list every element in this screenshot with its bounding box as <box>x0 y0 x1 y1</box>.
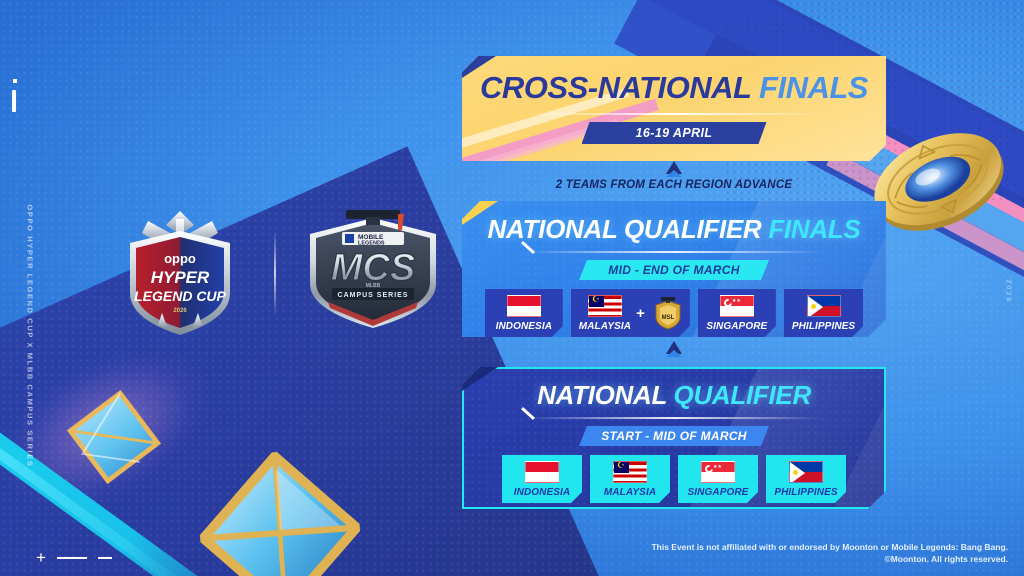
team-card-indonesia[interactable]: INDONESIA <box>485 289 563 337</box>
svg-text:HYPER: HYPER <box>151 268 210 287</box>
team-label: MALAYSIA <box>579 321 631 332</box>
team-card-singapore[interactable]: ★★ SINGAPORE <box>678 455 758 503</box>
footer-line-1: This Event is not affiliated with or end… <box>651 541 1008 554</box>
connector-qualify <box>462 337 886 367</box>
svg-text:LEGEND CUP: LEGEND CUP <box>134 288 226 304</box>
decor-dot <box>13 79 17 83</box>
mlbb-campus-series-logo: MOBILE LEGENDS MCS CAMPUS SERIES MLBB <box>298 210 448 335</box>
team-card-malaysia[interactable]: MALAYSIA <box>590 455 670 503</box>
qualifier-date-badge: START - MID OF MARCH <box>579 426 769 446</box>
team-label: INDONESIA <box>496 321 552 332</box>
divider-rule <box>526 417 822 419</box>
team-card-philippines[interactable]: PHILIPPINES <box>784 289 863 337</box>
crystal-gem-icon <box>195 447 366 576</box>
team-label: SINGAPORE <box>688 487 749 498</box>
crystal-gem-icon <box>60 382 169 492</box>
qualifier-finals-team-row: INDONESIA MALAYSIA + MSL <box>462 289 886 337</box>
team-card-malaysia[interactable]: MALAYSIA + MSL <box>571 289 690 337</box>
poster-canvas: + OPPO HYPER LEGEND CUP X MLBB CAMPUS SE… <box>0 0 1024 576</box>
cross-national-finals-panel: CROSS-NATIONAL FINALS 16-19 APRIL <box>462 56 886 161</box>
oppo-hyper-legend-cup-logo: oppo HYPER LEGEND CUP 2026 <box>110 205 250 340</box>
dash-icon <box>57 557 87 559</box>
svg-text:LEGENDS: LEGENDS <box>358 241 385 247</box>
footer-disclaimer: This Event is not affiliated with or end… <box>651 541 1008 567</box>
divider-rule <box>524 113 824 115</box>
qualifier-title: NATIONAL QUALIFIER <box>462 367 886 411</box>
connector-label: 2 TEAMS FROM EACH REGION ADVANCE <box>462 179 886 191</box>
philippines-flag-icon <box>807 295 841 317</box>
malaysia-flag-icon <box>588 295 622 317</box>
qualifier-title-main: NATIONAL <box>537 380 667 410</box>
tournament-stage-panels: CROSS-NATIONAL FINALS 16-19 APRIL 2 TEAM… <box>462 56 886 509</box>
qualifier-team-row: INDONESIA MALAYSIA ★★ SINGAPORE PHIL <box>462 455 886 503</box>
divider-rule <box>526 251 822 253</box>
plus-icon: + <box>36 548 46 568</box>
team-label: INDONESIA <box>514 487 570 498</box>
plus-icon: + <box>636 305 645 322</box>
gold-medal-icon <box>868 108 1010 256</box>
connector-advance: 2 TEAMS FROM EACH REGION ADVANCE <box>462 161 886 201</box>
team-card-indonesia[interactable]: INDONESIA <box>502 455 582 503</box>
national-qualifier-finals-panel: NATIONAL QUALIFIER FINALS MID - END OF M… <box>462 201 886 337</box>
team-card-philippines[interactable]: PHILIPPINES <box>766 455 846 503</box>
indonesia-flag-icon <box>507 295 541 317</box>
dash-icon <box>98 557 112 559</box>
national-qualifier-panel: NATIONAL QUALIFIER START - MID OF MARCH … <box>462 367 886 509</box>
malaysia-flag-icon <box>613 461 647 483</box>
svg-text:CAMPUS SERIES: CAMPUS SERIES <box>338 292 409 299</box>
finals-date-badge: 16-19 APRIL <box>582 122 767 144</box>
decor-bar <box>12 90 16 112</box>
logo-row: oppo HYPER LEGEND CUP 2026 <box>110 205 448 340</box>
finals-title: CROSS-NATIONAL FINALS <box>462 56 886 106</box>
decor-tick-marks: + <box>36 548 112 568</box>
singapore-flag-icon: ★★ <box>720 295 754 317</box>
msl-badge-icon: MSL <box>654 297 682 331</box>
logo-divider <box>274 230 276 316</box>
svg-text:MSL: MSL <box>662 315 675 321</box>
svg-text:2026: 2026 <box>173 308 187 314</box>
arrow-notch <box>666 350 682 357</box>
team-label: PHILIPPINES <box>792 321 855 332</box>
team-label: MALAYSIA <box>604 487 656 498</box>
team-label: PHILIPPINES <box>774 487 837 498</box>
philippines-flag-icon <box>789 461 823 483</box>
footer-line-2: ©Moonton. All rights reserved. <box>651 553 1008 566</box>
svg-text:oppo: oppo <box>164 251 196 266</box>
team-card-singapore[interactable]: ★★ SINGAPORE <box>698 289 776 337</box>
qualifier-finals-date-badge: MID - END OF MARCH <box>579 260 769 280</box>
team-label: SINGAPORE <box>706 321 767 332</box>
arrow-notch <box>666 170 682 177</box>
svg-text:MLBB: MLBB <box>366 283 381 289</box>
qualifier-finals-title-accent: FINALS <box>768 214 860 244</box>
finals-title-main: CROSS-NATIONAL <box>480 70 751 105</box>
qualifier-finals-title: NATIONAL QUALIFIER FINALS <box>462 201 886 245</box>
finals-title-accent: FINALS <box>759 70 868 105</box>
qualifier-title-accent: QUALIFIER <box>674 380 811 410</box>
indonesia-flag-icon <box>525 461 559 483</box>
side-text-left: OPPO HYPER LEGEND CUP X MLBB CAMPUS SERI… <box>26 205 35 405</box>
singapore-flag-icon: ★★ <box>701 461 735 483</box>
qualifier-finals-title-main: NATIONAL QUALIFIER <box>488 214 762 244</box>
